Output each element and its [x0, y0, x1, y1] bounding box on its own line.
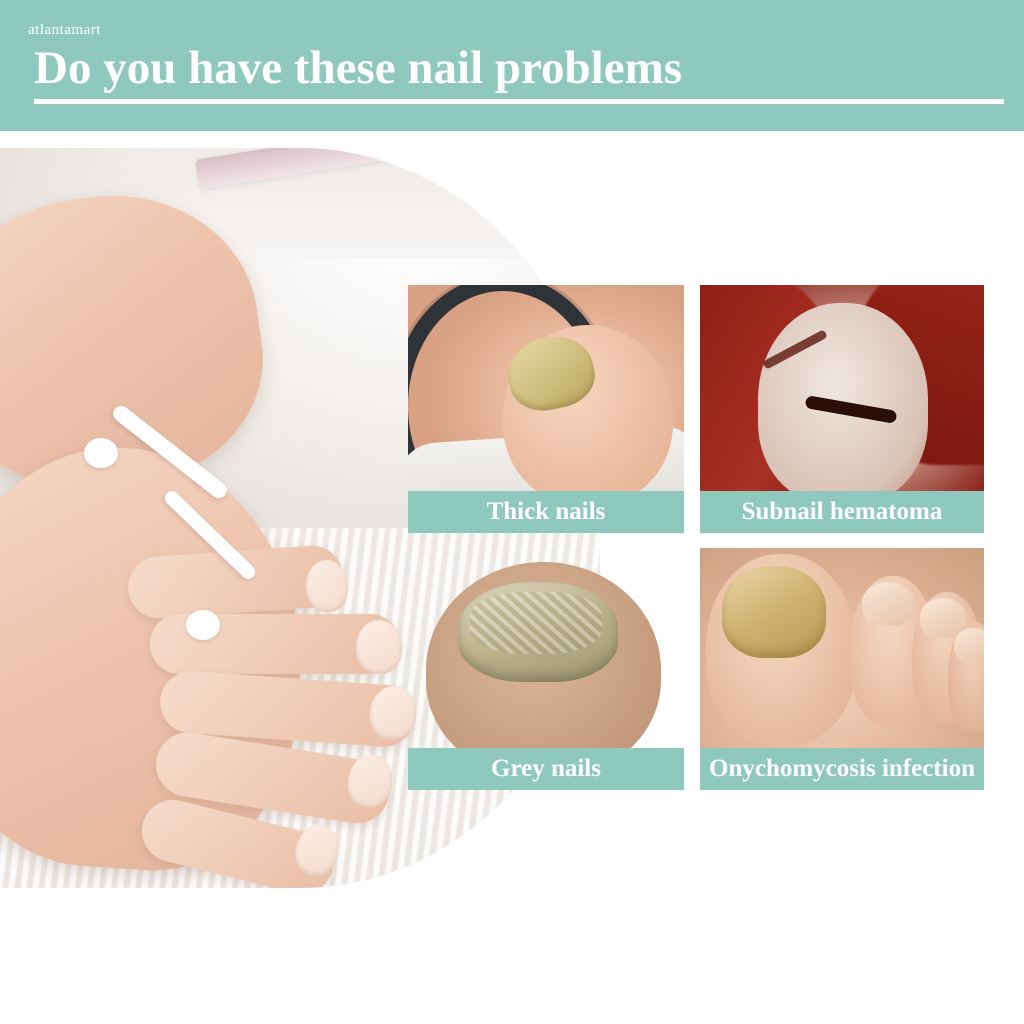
infected-nail-shape [722, 566, 826, 658]
condition-card-onychomycosis-infection: Onychomycosis infection [700, 548, 984, 790]
swab-tip-icon [84, 438, 118, 468]
toenail-shape [862, 582, 914, 626]
conditions-grid: Thick nails Subnail hematoma Grey nails [408, 285, 984, 790]
toenail-shape [954, 628, 984, 662]
condition-caption: Subnail hematoma [700, 491, 984, 533]
page-title: Do you have these nail problems [34, 42, 1014, 94]
condition-card-grey-nails: Grey nails [408, 548, 684, 790]
swab-tip-icon [186, 610, 220, 640]
header-banner: atlantamart Do you have these nail probl… [0, 0, 1024, 131]
condition-caption: Grey nails [408, 748, 684, 790]
condition-caption: Thick nails [408, 491, 684, 533]
crumbling-texture [470, 592, 602, 654]
condition-card-thick-nails: Thick nails [408, 285, 684, 533]
product-infographic: atlantamart Do you have these nail probl… [0, 0, 1024, 1024]
fingernail [356, 620, 402, 674]
title-underline [34, 99, 1004, 104]
condition-card-subnail-hematoma: Subnail hematoma [700, 285, 984, 533]
watermark-text: atlantamart [28, 22, 101, 39]
condition-caption: Onychomycosis infection [700, 748, 984, 790]
